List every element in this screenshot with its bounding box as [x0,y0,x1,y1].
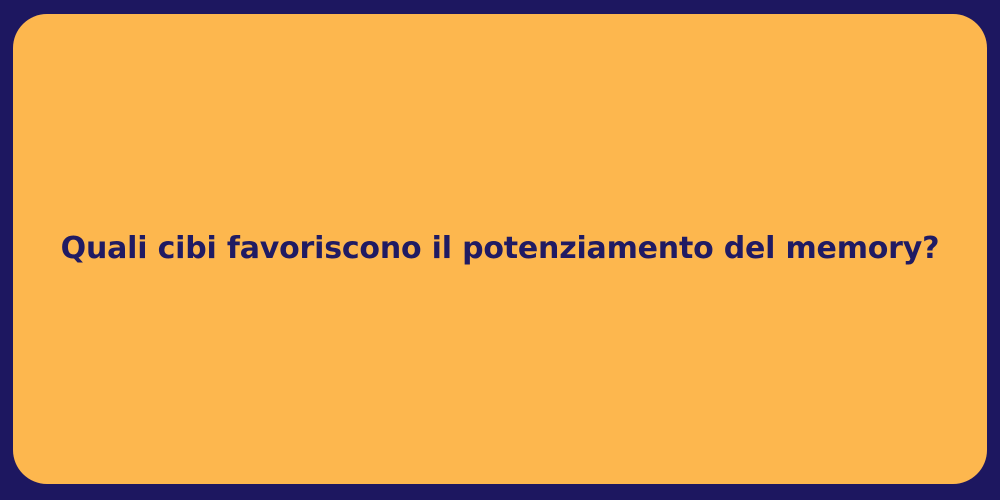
banner-card-panel: Quali cibi favoriscono il potenziamento … [13,14,987,484]
banner-headline: Quali cibi favoriscono il potenziamento … [13,230,987,268]
banner-root: Quali cibi favoriscono il potenziamento … [0,0,1000,500]
